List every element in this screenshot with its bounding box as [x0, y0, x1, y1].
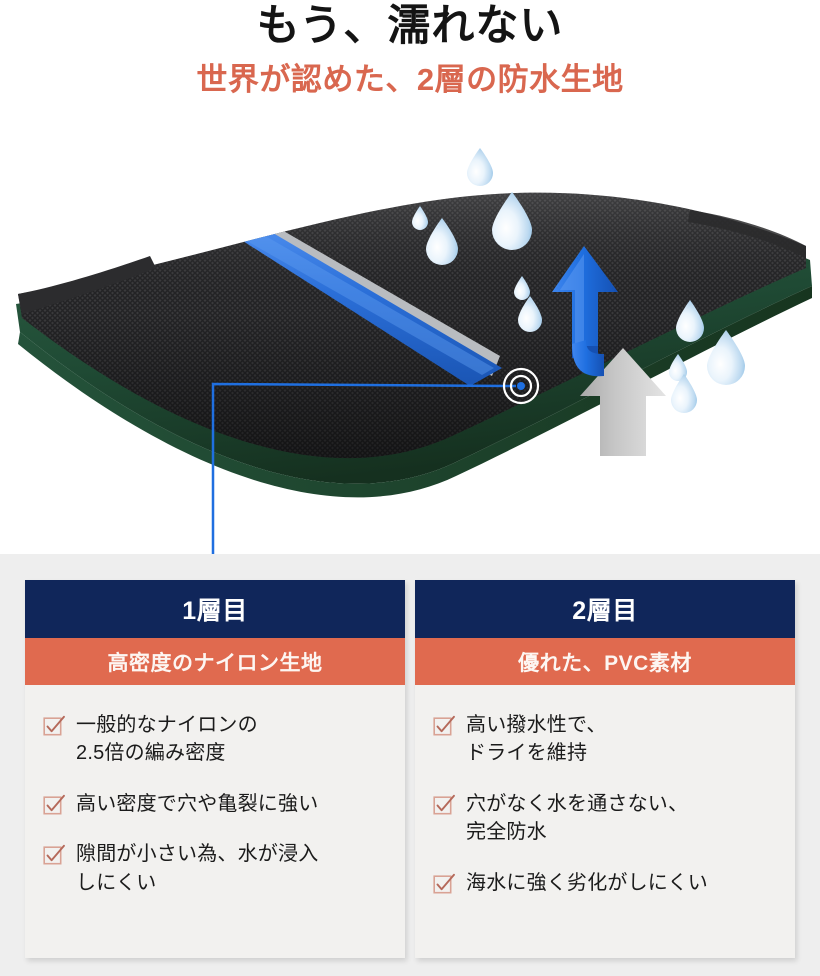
feature-text: 穴がなく水を通さない、 完全防水: [466, 790, 688, 847]
feature-text: 高い密度で穴や亀裂に強い: [76, 790, 318, 818]
page-subtitle: 世界が認めた、2層の防水生地: [0, 62, 820, 98]
layer-card-2: 2層目 優れた、PVC素材 高い撥水性で、 ドライを維持: [415, 580, 795, 958]
feature-text: 海水に強く劣化がしにくい: [466, 869, 708, 897]
layer-card-1-material: 高密度のナイロン生地: [108, 647, 323, 677]
checkbox-checked-icon: [433, 873, 455, 895]
checkbox-checked-icon: [43, 844, 65, 866]
layer-card-1-header: 1層目: [25, 580, 405, 638]
layer-card-2-title: 2層目: [572, 591, 637, 627]
feature-text: 一般的なナイロンの 2.5倍の編み密度: [76, 711, 258, 768]
feature-item: 海水に強く劣化がしにくい: [433, 869, 795, 897]
layer-card-1-title: 1層目: [182, 591, 247, 627]
feature-item: 高い撥水性で、 ドライを維持: [433, 711, 795, 768]
fabric-cross-section-illustration: [0, 118, 820, 554]
feature-item: 一般的なナイロンの 2.5倍の編み密度: [43, 711, 405, 768]
layer-card-1-subheader: 高密度のナイロン生地: [25, 638, 405, 685]
checkbox-checked-icon: [433, 715, 455, 737]
layer-card-2-subheader: 優れた、PVC素材: [415, 638, 795, 685]
infographic-root: もう、濡れない 世界が認めた、2層の防水生地: [0, 0, 820, 976]
checkbox-checked-icon: [43, 715, 65, 737]
feature-item: 隙間が小さい為、水が浸入 しにくい: [43, 840, 405, 897]
layer-card-2-features: 高い撥水性で、 ドライを維持 穴がなく水を通さない、 完全防水: [415, 685, 795, 897]
feature-item: 高い密度で穴や亀裂に強い: [43, 790, 405, 818]
layer-card-2-header: 2層目: [415, 580, 795, 638]
layer-card-1-features: 一般的なナイロンの 2.5倍の編み密度 高い密度で穴や亀裂に強い: [25, 685, 405, 897]
page-title: もう、濡れない: [0, 2, 820, 50]
layer-card-1: 1層目 高密度のナイロン生地 一般的なナイロンの 2.5倍の編み密度: [25, 580, 405, 958]
feature-text: 高い撥水性で、 ドライを維持: [466, 711, 607, 768]
layer-card-2-material: 優れた、PVC素材: [518, 647, 692, 677]
checkbox-checked-icon: [433, 794, 455, 816]
feature-item: 穴がなく水を通さない、 完全防水: [433, 790, 795, 847]
feature-text: 隙間が小さい為、水が浸入 しにくい: [76, 840, 318, 897]
checkbox-checked-icon: [43, 794, 65, 816]
